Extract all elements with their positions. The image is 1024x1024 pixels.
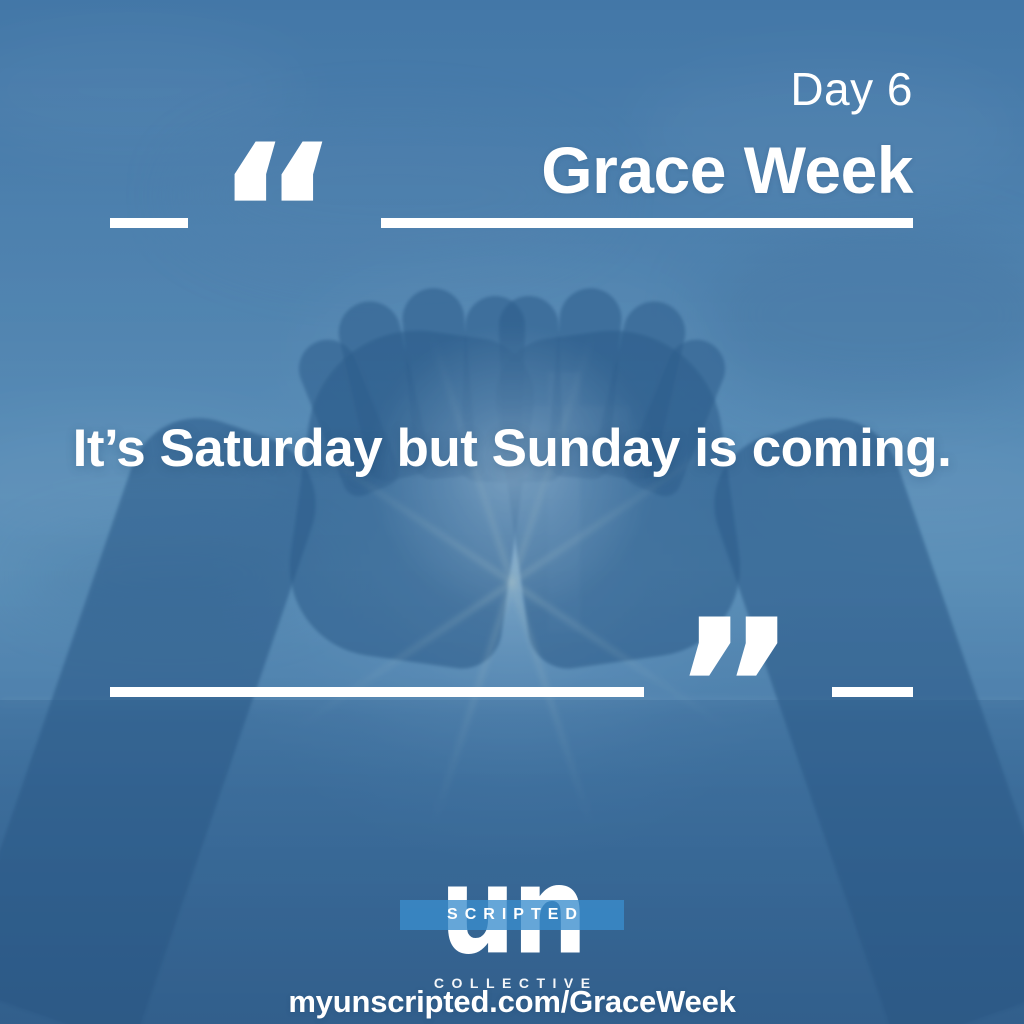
day-label: Day 6 bbox=[790, 62, 913, 116]
site-url: myunscripted.com/GraceWeek bbox=[0, 984, 1024, 1020]
unscripted-collective-logo: un SCRIPTED COLLECTIVE bbox=[0, 858, 1024, 991]
logo-mark: un SCRIPTED bbox=[450, 858, 574, 966]
logo-scripted-bar: SCRIPTED bbox=[400, 900, 624, 930]
series-title: Grace Week bbox=[541, 132, 913, 208]
ornament-rule-bottom-left bbox=[110, 687, 644, 697]
ornament-dash-bottom-right bbox=[832, 687, 913, 697]
quote-close-icon: ” bbox=[672, 595, 791, 785]
logo-scripted-text: SCRIPTED bbox=[440, 906, 584, 924]
quote-text: It’s Saturday but Sunday is coming. bbox=[0, 418, 1024, 479]
card-content: Day 6 Grace Week “ It’s Saturday but Sun… bbox=[0, 0, 1024, 1024]
ornament-rule-top-right bbox=[381, 218, 913, 228]
devotional-graphic: Day 6 Grace Week “ It’s Saturday but Sun… bbox=[0, 0, 1024, 1024]
quote-open-icon: “ bbox=[215, 120, 334, 310]
ornament-dash-top-left bbox=[110, 218, 188, 228]
